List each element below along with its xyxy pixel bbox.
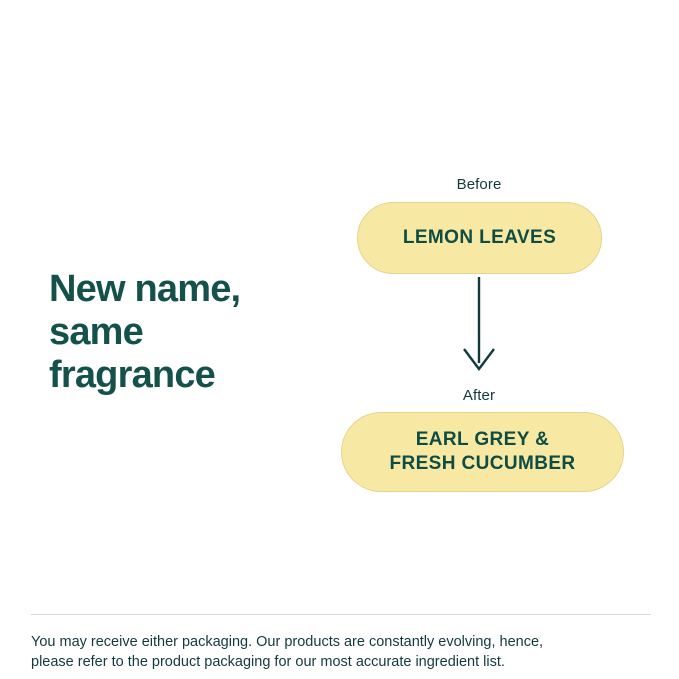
name-change-flow: Before LEMON LEAVES After EARL GREY & FR… <box>336 175 636 492</box>
before-label: Before <box>336 175 622 194</box>
arrow-container <box>336 274 622 379</box>
disclaimer-line-1: You may receive either packaging. Our pr… <box>31 632 651 652</box>
after-name-line-2: FRESH CUCUMBER <box>389 452 575 476</box>
after-name-pill: EARL GREY & FRESH CUCUMBER <box>341 412 624 492</box>
before-name-text: LEMON LEAVES <box>403 227 556 249</box>
before-name-pill: LEMON LEAVES <box>357 202 602 274</box>
after-label: After <box>336 386 622 405</box>
after-name-text: EARL GREY & FRESH CUCUMBER <box>389 428 575 476</box>
disclaimer-line-2: please refer to the product packaging fo… <box>31 652 651 672</box>
headline: New name, same fragrance <box>49 268 339 397</box>
headline-line-3: fragrance <box>49 354 339 397</box>
headline-line-2: same <box>49 311 339 354</box>
headline-line-1: New name, <box>49 268 339 311</box>
promo-graphic: New name, same fragrance Before LEMON LE… <box>0 0 679 679</box>
disclaimer: You may receive either packaging. Our pr… <box>31 614 651 672</box>
after-name-line-1: EARL GREY & <box>416 429 550 450</box>
down-arrow-icon <box>459 277 499 377</box>
